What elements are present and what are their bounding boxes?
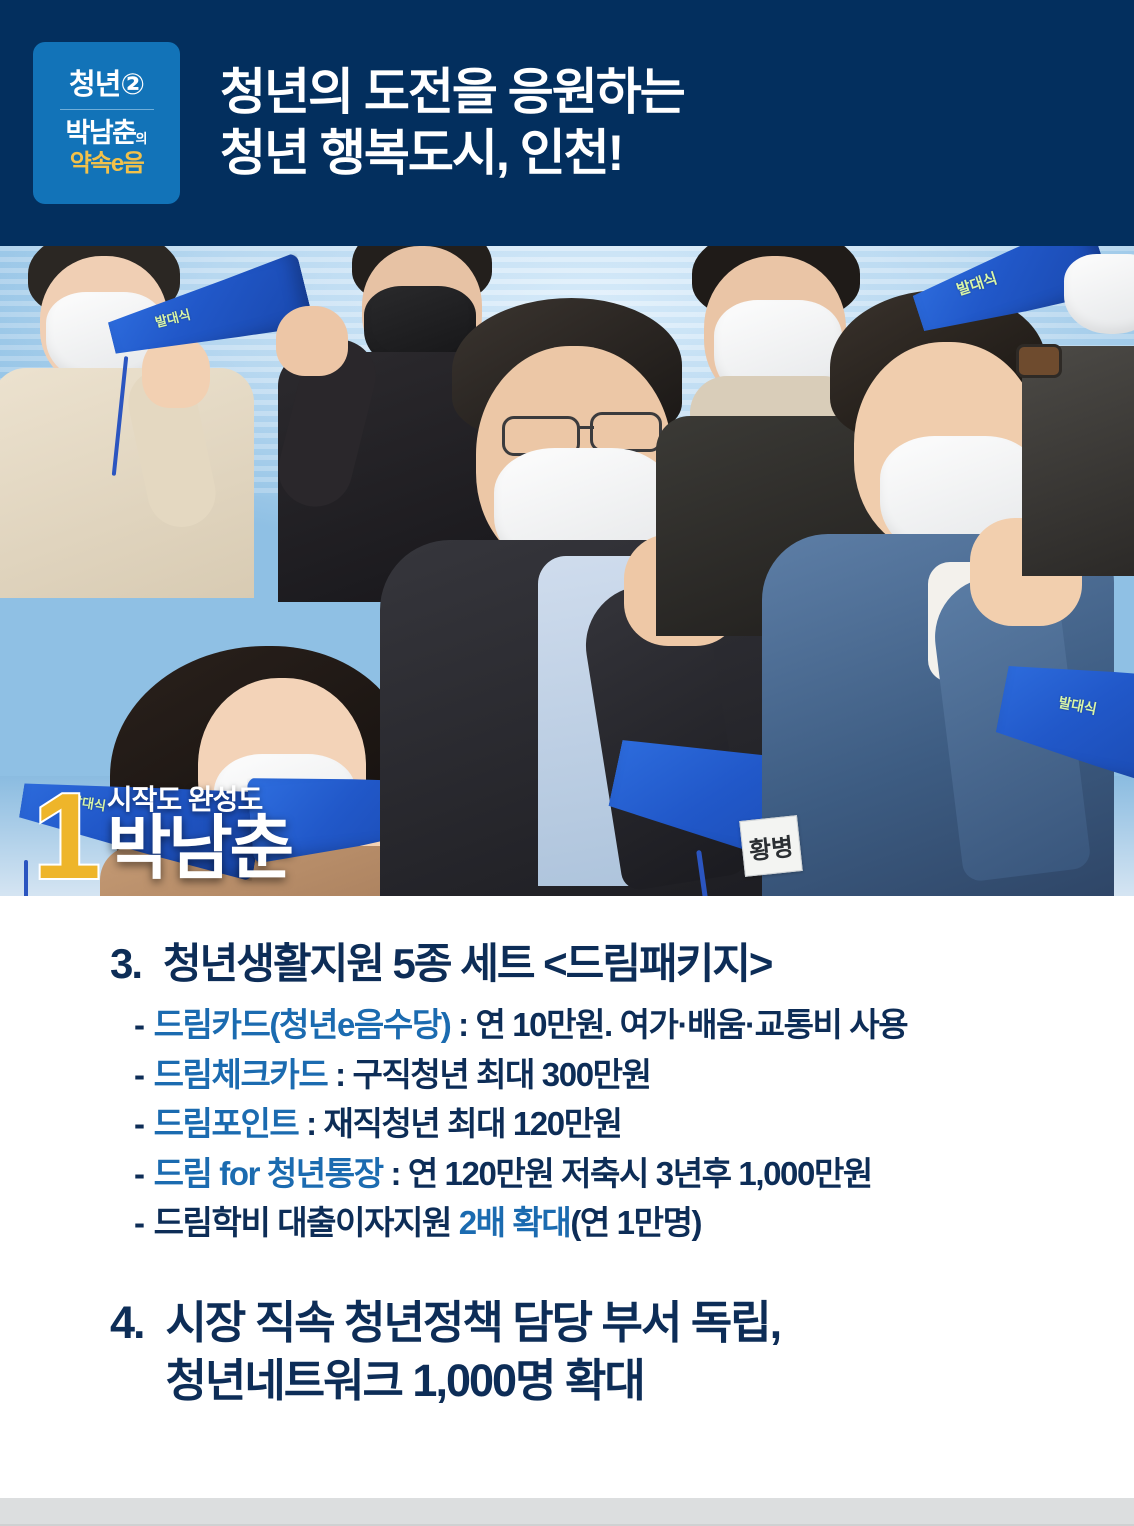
candidate-overlay-text: 시작도 완성도 박남춘: [107, 786, 291, 886]
section-4-title-line-2: 청년네트워크 1,000명 확대: [166, 1352, 781, 1411]
bullet-highlight: 드림카드(청년e음수당): [154, 1006, 451, 1043]
wristwatch: [1016, 344, 1062, 378]
bullet-dash: -: [134, 1155, 144, 1192]
person-far-right: [1030, 246, 1134, 576]
glasses-bridge: [578, 426, 594, 429]
raised-fist: [276, 306, 348, 376]
section-4-heading: 4. 시장 직속 청년정책 담당 부서 독립, 청년네트워크 1,000명 확대: [0, 1294, 1134, 1411]
bullet-dash: -: [134, 1204, 144, 1241]
megaphone-strap: [24, 860, 28, 896]
megaphone-cone: [991, 640, 1134, 798]
bullet-pre: 드림학비 대출이자지원: [154, 1204, 459, 1241]
page-title-line-1: 청년의 도전을 응원하는: [220, 62, 684, 123]
bullet-rest: (연 1만명): [570, 1204, 701, 1241]
candidate-overlay: 1 시작도 완성도 박남춘: [33, 786, 291, 886]
bullet-highlight: 2배 확대: [459, 1204, 571, 1241]
section-3-title: 청년생활지원 5종 세트 <드림패키지>: [163, 938, 771, 990]
bullet-item: -드림 for 청년통장 : 연 120만원 저축시 3년후 1,000만원: [0, 1149, 1134, 1199]
section-4-number: 4.: [110, 1294, 144, 1411]
policy-content: 3. 청년생활지원 5종 세트 <드림패키지> -드림카드(청년e음수당) : …: [0, 896, 1134, 1411]
bullet-highlight: 드림포인트: [154, 1105, 299, 1142]
bullet-item: -드림포인트 : 재직청년 최대 120만원: [0, 1099, 1134, 1149]
pledge-badge: 청년② 박남춘 의 약속e음: [33, 42, 180, 204]
section-3-heading: 3. 청년생활지원 5종 세트 <드림패키지>: [0, 938, 1134, 990]
bullet-item: -드림학비 대출이자지원 2배 확대(연 1만명): [0, 1198, 1134, 1248]
section-3-bullet-list: -드림카드(청년e음수당) : 연 10만원. 여가·배움·교통비 사용 -드림…: [0, 1000, 1134, 1248]
footer-band: [0, 1498, 1134, 1526]
badge-divider: [60, 109, 154, 110]
page-title: 청년의 도전을 응원하는 청년 행복도시, 인천!: [220, 62, 684, 184]
section-4-title-line-1: 시장 직속 청년정책 담당 부서 독립,: [166, 1294, 781, 1353]
bullet-rest: : 재직청년 최대 120만원: [298, 1105, 621, 1142]
page-header: 청년② 박남춘 의 약속e음 청년의 도전을 응원하는 청년 행복도시, 인천!: [0, 0, 1134, 246]
bullet-dash: -: [134, 1105, 144, 1142]
bullet-rest: : 연 120만원 저축시 3년후 1,000만원: [383, 1155, 872, 1192]
page-title-line-2: 청년 행복도시, 인천!: [220, 123, 684, 184]
torso: [1022, 346, 1134, 576]
torso: [0, 368, 254, 598]
name-tag-1: 황병: [739, 815, 803, 877]
policy-section-4: 4. 시장 직속 청년정책 담당 부서 독립, 청년네트워크 1,000명 확대: [0, 1294, 1134, 1411]
bullet-item: -드림카드(청년e음수당) : 연 10만원. 여가·배움·교통비 사용: [0, 1000, 1134, 1050]
section-3-number: 3.: [110, 938, 141, 990]
bullet-rest: : 구직청년 최대 300만원: [327, 1056, 650, 1093]
bullet-highlight: 드림 for 청년통장: [154, 1155, 383, 1192]
campaign-photo: 발대식 발대식: [0, 246, 1134, 896]
badge-promise-label: 약속e음: [70, 152, 144, 176]
badge-series-label: 청년②: [69, 71, 144, 109]
bullet-item: -드림체크카드 : 구직청년 최대 300만원: [0, 1050, 1134, 1100]
policy-section-3: 3. 청년생활지원 5종 세트 <드림패키지> -드림카드(청년e음수당) : …: [0, 938, 1134, 1248]
candidate-number: 1: [33, 786, 101, 886]
badge-name-suffix: 의: [136, 132, 148, 147]
badge-name-row: 박남춘 의: [66, 110, 148, 147]
bullet-dash: -: [134, 1056, 144, 1093]
badge-candidate-name: 박남춘: [66, 120, 136, 147]
bullet-highlight: 드림체크카드: [154, 1056, 328, 1093]
candidate-name: 박남춘: [107, 816, 291, 880]
section-4-title: 시장 직속 청년정책 담당 부서 독립, 청년네트워크 1,000명 확대: [166, 1294, 781, 1411]
face-mask: [1064, 254, 1134, 334]
name-tag-1-text: 황병: [747, 826, 795, 865]
bullet-dash: -: [134, 1006, 144, 1043]
bullet-rest: : 연 10만원. 여가·배움·교통비 사용: [450, 1006, 907, 1043]
